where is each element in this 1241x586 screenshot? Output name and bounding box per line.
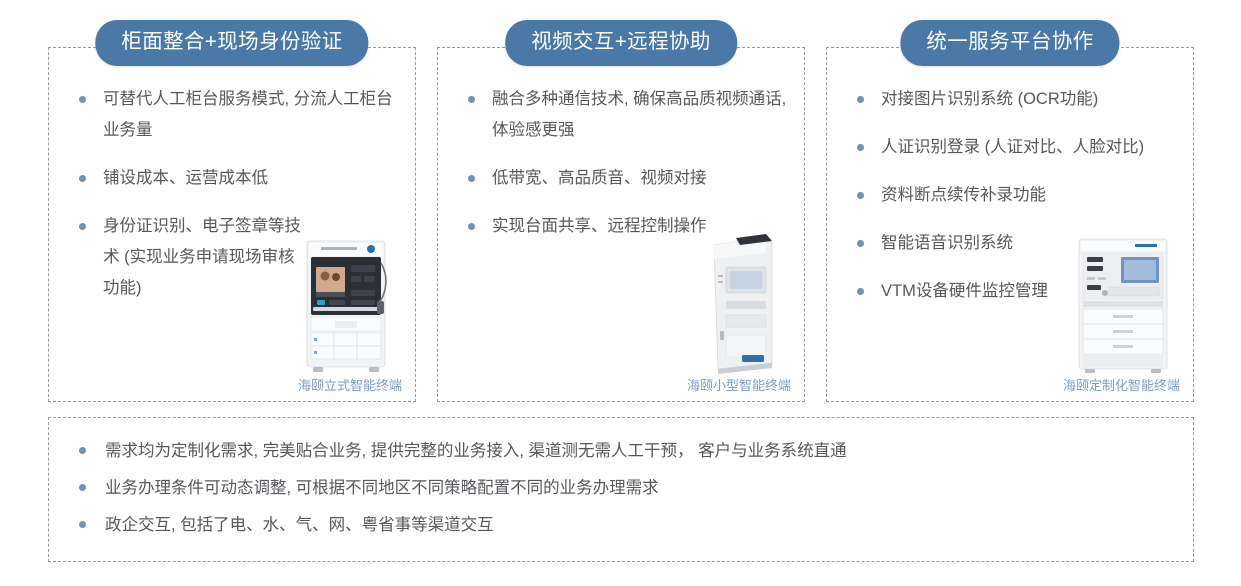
- feature-panels-row: 柜面整合+现场身份验证 可替代人工柜台服务模式, 分流人工柜台业务量 铺设成本、…: [48, 47, 1194, 402]
- list-item: 铺设成本、运营成本低: [75, 163, 398, 194]
- list-item: VTM设备硬件监控管理: [853, 276, 1099, 307]
- list-item: 低带宽、高品质音、视频对接: [464, 163, 792, 194]
- panel-1-title: 柜面整合+现场身份验证: [95, 20, 368, 66]
- list-item: 政企交互, 包括了电、水、气、网、粤省事等渠道交互: [75, 513, 1193, 537]
- list-item: 可替代人工柜台服务模式, 分流人工柜台业务量: [75, 84, 398, 146]
- customized-smart-terminal-image: [1069, 235, 1177, 375]
- panel-2-bullet-list: 融合多种通信技术, 确保高品质视频通话, 体验感更强 低带宽、高品质音、视频对接…: [438, 84, 804, 242]
- panel-3-title: 统一服务平台协作: [900, 20, 1119, 66]
- feature-panel-2: 视频交互+远程协助 融合多种通信技术, 确保高品质视频通话, 体验感更强 低带宽…: [437, 47, 805, 402]
- list-item: 需求均为定制化需求, 完美贴合业务, 提供完整的业务接入, 渠道测无需人工干预，…: [75, 439, 1193, 463]
- panel-2-title: 视频交互+远程协助: [505, 20, 737, 66]
- standing-smart-terminal-image: [293, 235, 399, 375]
- compact-smart-terminal-image: [696, 231, 782, 375]
- panel-1-caption: 海颐立式智能终端: [298, 379, 402, 392]
- list-item: 人证识别登录 (人证对比、人脸对比): [853, 132, 1193, 163]
- summary-bullet-list: 需求均为定制化需求, 完美贴合业务, 提供完整的业务接入, 渠道测无需人工干预，…: [49, 418, 1193, 537]
- feature-panel-3: 统一服务平台协作 对接图片识别系统 (OCR功能) 人证识别登录 (人证对比、人…: [826, 47, 1194, 402]
- list-item: 业务办理条件可动态调整, 可根据不同地区不同策略配置不同的业务办理需求: [75, 476, 1193, 500]
- list-item: 资料断点续传补录功能: [853, 180, 1193, 211]
- panel-3-caption: 海颐定制化智能终端: [1063, 379, 1180, 392]
- panel-2-caption: 海颐小型智能终端: [687, 379, 791, 392]
- list-item: 对接图片识别系统 (OCR功能): [853, 84, 1193, 115]
- list-item: 身份证识别、电子签章等技术 (实现业务申请现场审核功能): [75, 211, 303, 304]
- slide-canvas: 柜面整合+现场身份验证 可替代人工柜台服务模式, 分流人工柜台业务量 铺设成本、…: [0, 0, 1241, 586]
- feature-panel-1: 柜面整合+现场身份验证 可替代人工柜台服务模式, 分流人工柜台业务量 铺设成本、…: [48, 47, 416, 402]
- summary-panel: 需求均为定制化需求, 完美贴合业务, 提供完整的业务接入, 渠道测无需人工干预，…: [48, 417, 1194, 562]
- list-item: 智能语音识别系统: [853, 228, 1099, 259]
- list-item: 融合多种通信技术, 确保高品质视频通话, 体验感更强: [464, 84, 792, 146]
